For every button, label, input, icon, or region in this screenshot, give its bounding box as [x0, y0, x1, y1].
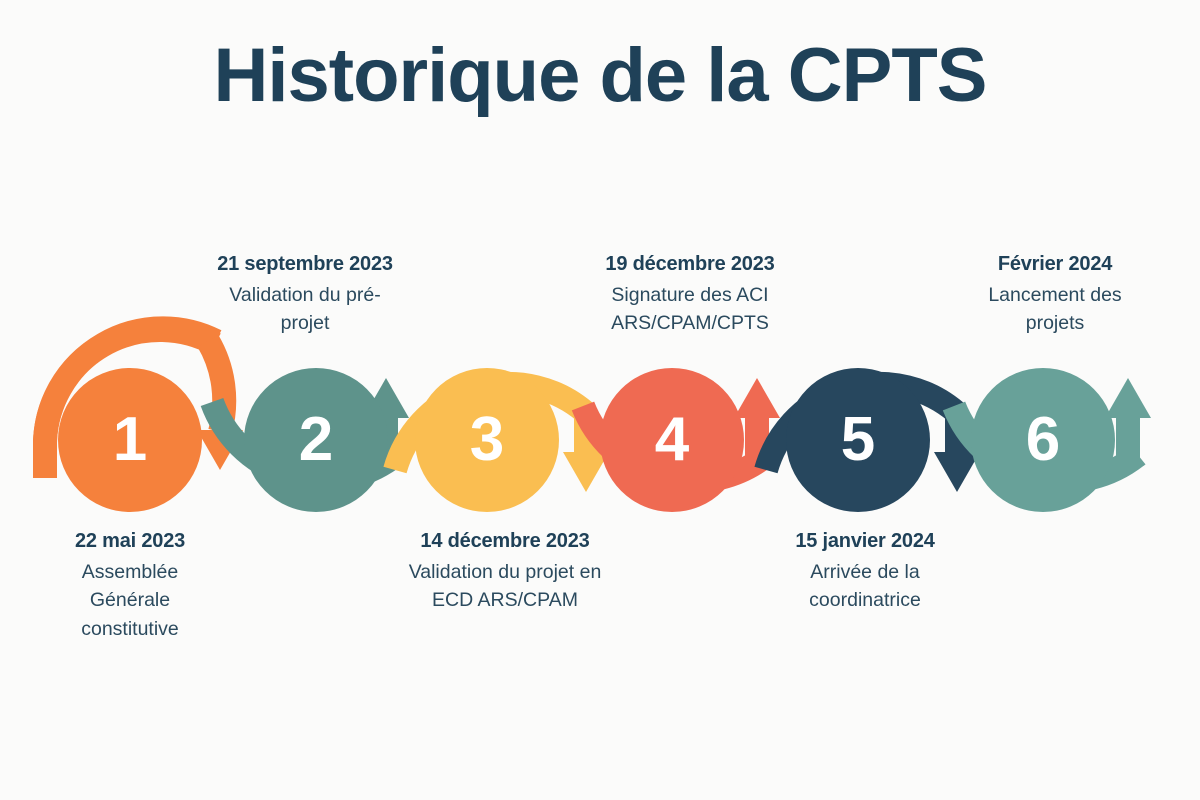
step-4-caption: 19 décembre 2023 Signature des ACI ARS/C… — [540, 250, 840, 338]
step-3-text: Validation du projet en ECD ARS/CPAM — [345, 558, 665, 615]
step-3-caption: 14 décembre 2023 Validation du projet en… — [345, 527, 665, 615]
step-4-circle[interactable] — [600, 368, 744, 512]
step-5-date: 15 janvier 2024 — [730, 527, 1000, 556]
step-6-circle[interactable] — [971, 368, 1115, 512]
step-2-circle[interactable] — [244, 368, 388, 512]
timeline-graphic — [0, 0, 1200, 800]
step-4-date: 19 décembre 2023 — [540, 250, 840, 279]
step-6-date: Février 2024 — [925, 250, 1185, 279]
infographic-canvas: Historique de la CPTS — [0, 0, 1200, 800]
step-5-circle[interactable] — [786, 368, 930, 512]
step-1-circle[interactable] — [58, 368, 202, 512]
step-2-date: 21 septembre 2023 — [155, 250, 455, 279]
step-6-text: Lancement des projets — [925, 281, 1185, 338]
step-1-caption: 22 mai 2023 Assemblée Générale constitut… — [10, 527, 250, 643]
step-4-text: Signature des ACI ARS/CPAM/CPTS — [540, 281, 840, 338]
step-2-text: Validation du pré- projet — [155, 281, 455, 338]
step-6-caption: Février 2024 Lancement des projets — [925, 250, 1185, 338]
step-3-date: 14 décembre 2023 — [345, 527, 665, 556]
step-1-text: Assemblée Générale constitutive — [10, 558, 250, 643]
step-3-circle[interactable] — [415, 368, 559, 512]
step-2-caption: 21 septembre 2023 Validation du pré- pro… — [155, 250, 455, 338]
step-1-date: 22 mai 2023 — [10, 527, 250, 556]
step-5-text: Arrivée de la coordinatrice — [730, 558, 1000, 615]
step-5-caption: 15 janvier 2024 Arrivée de la coordinatr… — [730, 527, 1000, 615]
